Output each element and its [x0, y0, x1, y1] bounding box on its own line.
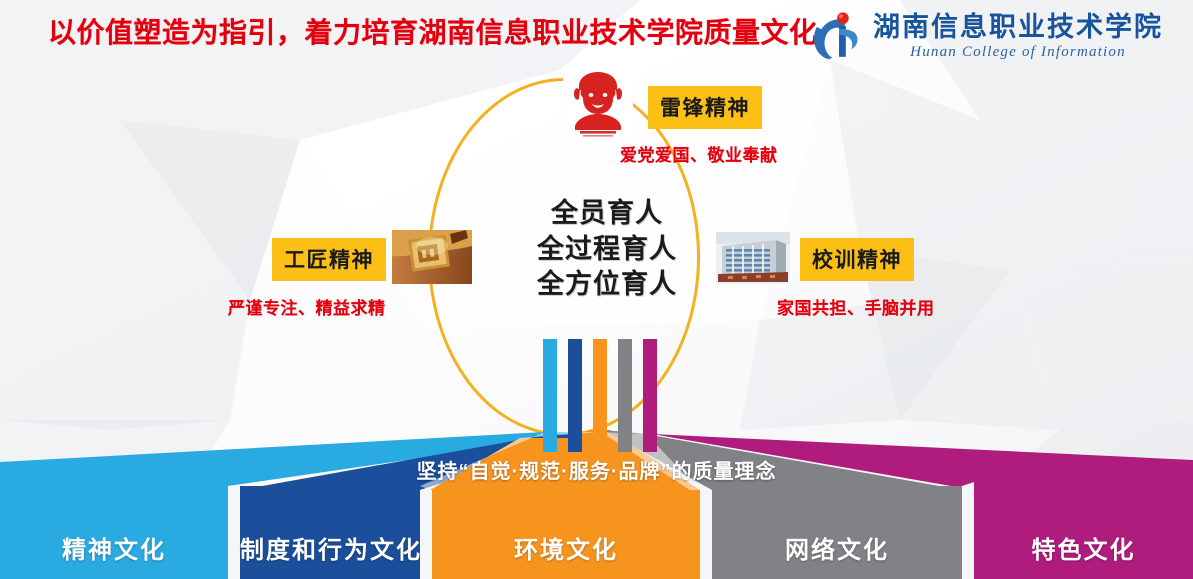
- badge-motto: 校训精神: [800, 238, 914, 281]
- badge-leifeng: 雷锋精神: [648, 86, 762, 129]
- leifeng-portrait-icon: [563, 68, 633, 140]
- quality-philosophy-tagline: 坚持“自觉·规范·服务·品牌”的质量理念: [0, 455, 1193, 484]
- center-statement: 全员育人 全过程育人 全方位育人: [487, 196, 727, 303]
- center-line-1: 全员育人: [487, 196, 727, 232]
- torch-person-logo-icon: [811, 9, 869, 65]
- slogan-motto: 家国共担、手脑并用: [777, 294, 935, 319]
- category-label-environment[interactable]: 环境文化: [432, 530, 700, 565]
- category-label-system[interactable]: 制度和行为文化: [240, 530, 422, 565]
- category-label-network[interactable]: 网络文化: [712, 530, 962, 565]
- culture-bar-environment: [593, 339, 607, 452]
- header-title-zone: 以价值塑造为指引，着力培育湖南信息职业技术学院质量文化: [0, 0, 820, 62]
- badge-craftsman: 工匠精神: [272, 238, 386, 281]
- culture-bar-network: [618, 339, 632, 452]
- category-label-feature[interactable]: 特色文化: [974, 530, 1193, 565]
- center-line-3: 全方位育人: [487, 267, 727, 303]
- center-line-2: 全过程育人: [487, 232, 727, 268]
- logo-name-cn: 湖南信息职业技术学院: [873, 13, 1163, 42]
- campus-building-icon: [716, 232, 790, 284]
- page-title: 以价值塑造为指引，着力培育湖南信息职业技术学院质量文化: [0, 11, 818, 51]
- institution-logo: 湖南信息职业技术学院 Hunan College of Information: [811, 6, 1171, 68]
- slide-canvas: 以价值塑造为指引，着力培育湖南信息职业技术学院质量文化 湖南信息职业技术学院 H…: [0, 0, 1193, 579]
- culture-bar-system: [568, 339, 582, 452]
- slogan-craftsman: 严谨专注、精益求精: [228, 294, 386, 319]
- culture-bars: [543, 339, 657, 452]
- logo-name-en: Hunan College of Information: [873, 43, 1163, 61]
- wood-carving-craft-icon: [392, 230, 472, 284]
- culture-bar-spirit: [543, 339, 557, 452]
- culture-bar-feature: [643, 339, 657, 452]
- category-label-spirit[interactable]: 精神文化: [0, 530, 228, 565]
- slogan-leifeng: 爱党爱国、敬业奉献: [620, 141, 778, 166]
